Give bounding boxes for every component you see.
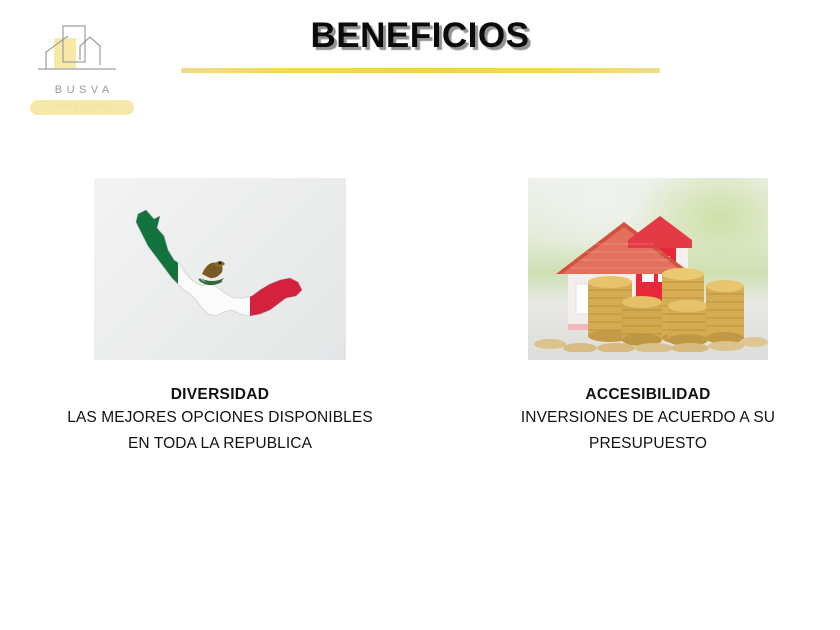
benefit-body-line-1: INVERSIONES DE ACUERDO A SU: [470, 405, 826, 431]
mexico-coat-of-arms-icon: [196, 253, 228, 287]
building-mark-icon: [24, 22, 140, 84]
house-and-coins-illustration: [528, 178, 768, 360]
mexico-flag-map-photo: [94, 178, 346, 360]
benefit-card-accesibilidad: ACCESIBILIDAD INVERSIONES DE ACUERDO A S…: [470, 178, 826, 457]
benefit-body-line-1: LAS MEJORES OPCIONES DISPONIBLES: [28, 405, 412, 431]
house-and-coins-photo: [528, 178, 768, 360]
benefit-card-diversidad: DIVERSIDAD LAS MEJORES OPCIONES DISPONIB…: [28, 178, 412, 457]
slide-canvas: BUSVA INMOBILIARIA BENEFICIOS: [0, 0, 840, 630]
benefit-heading: ACCESIBILIDAD: [470, 385, 826, 405]
page-title: BENEFICIOS: [180, 16, 660, 56]
mexico-map-shape: [94, 178, 346, 360]
busva-logo[interactable]: BUSVA INMOBILIARIA: [24, 22, 140, 122]
benefit-body-line-2: PRESUPUESTO: [470, 431, 826, 457]
logo-wordmark: BUSVA: [24, 84, 140, 96]
benefit-caption-diversidad: DIVERSIDAD LAS MEJORES OPCIONES DISPONIB…: [28, 385, 412, 457]
title-underline-rule: [181, 68, 660, 73]
logo-tagline: INMOBILIARIA: [30, 102, 134, 113]
benefit-caption-accesibilidad: ACCESIBILIDAD INVERSIONES DE ACUERDO A S…: [470, 385, 826, 457]
benefit-heading: DIVERSIDAD: [28, 385, 412, 405]
benefit-body-line-2: EN TODA LA REPUBLICA: [28, 431, 412, 457]
